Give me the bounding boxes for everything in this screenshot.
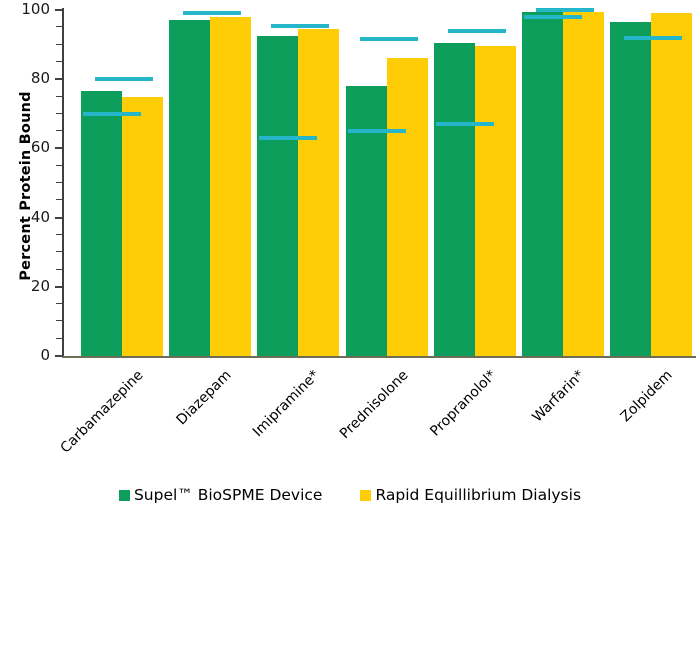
legend-item[interactable]: Rapid Equillibrium Dialysis	[360, 486, 581, 504]
y-tick-label: 20	[2, 279, 50, 294]
reference-marker	[83, 112, 141, 116]
bar-group	[522, 10, 604, 356]
reference-marker	[259, 136, 317, 140]
x-axis-category-label: Diazepam	[0, 368, 235, 661]
legend-item[interactable]: Supel™ BioSPME Device	[119, 486, 322, 504]
y-axis-major-tick	[55, 78, 62, 80]
bar-group	[169, 10, 251, 356]
y-axis-tick-labels: 020406080100	[0, 0, 50, 370]
reference-marker	[271, 24, 329, 28]
bar[interactable]	[122, 97, 163, 357]
bar[interactable]	[610, 22, 651, 356]
y-axis-major-tick	[55, 147, 62, 149]
bar[interactable]	[563, 12, 604, 356]
y-tick-label: 60	[2, 140, 50, 155]
bar[interactable]	[298, 29, 339, 356]
y-tick-label: 100	[2, 2, 50, 17]
bar[interactable]	[210, 17, 251, 356]
bar[interactable]	[257, 36, 298, 356]
bar-group	[81, 10, 163, 356]
reference-marker	[95, 77, 153, 81]
bar[interactable]	[475, 46, 516, 356]
reference-marker	[360, 37, 418, 41]
legend-label: Rapid Equillibrium Dialysis	[375, 486, 581, 504]
bar[interactable]	[434, 43, 475, 356]
bar-group	[346, 10, 428, 356]
reference-marker	[183, 11, 241, 15]
reference-marker	[448, 29, 506, 33]
bar[interactable]	[387, 58, 428, 356]
bar[interactable]	[651, 13, 692, 356]
y-axis-major-tick	[55, 217, 62, 219]
x-axis-category-label: Zolpidem	[382, 368, 675, 661]
reference-marker	[524, 15, 582, 19]
x-axis-category-labels: CarbamazepineDiazepamImipramine*Predniso…	[0, 358, 700, 470]
legend-label: Supel™ BioSPME Device	[134, 486, 322, 504]
bar-group	[257, 10, 339, 356]
x-axis-category-label: Propranolol*	[206, 368, 499, 661]
reference-marker	[348, 129, 406, 133]
reference-marker	[624, 36, 682, 40]
y-tick-label: 80	[2, 71, 50, 86]
reference-marker	[436, 122, 494, 126]
plot-area	[62, 10, 696, 356]
y-axis-major-tick	[55, 9, 62, 11]
legend-swatch-icon	[119, 490, 130, 501]
y-tick-label: 40	[2, 210, 50, 225]
bar[interactable]	[346, 86, 387, 356]
bar[interactable]	[522, 12, 563, 356]
bar[interactable]	[81, 91, 122, 356]
x-axis-category-label: Warfarin*	[294, 368, 587, 661]
legend-swatch-icon	[360, 490, 371, 501]
y-axis-major-tick	[55, 286, 62, 288]
bar-group	[434, 10, 516, 356]
chart-legend: Supel™ BioSPME DeviceRapid Equillibrium …	[0, 482, 700, 508]
bar-chart: Percent Protein Bound 020406080100 Carba…	[0, 0, 700, 512]
x-axis-category-label: Prednisolone	[118, 368, 411, 661]
bar-group	[610, 10, 692, 356]
bar[interactable]	[169, 20, 210, 356]
y-axis-major-tick	[55, 355, 62, 357]
reference-marker	[536, 8, 594, 12]
x-axis-category-label: Imipramine*	[30, 368, 323, 661]
